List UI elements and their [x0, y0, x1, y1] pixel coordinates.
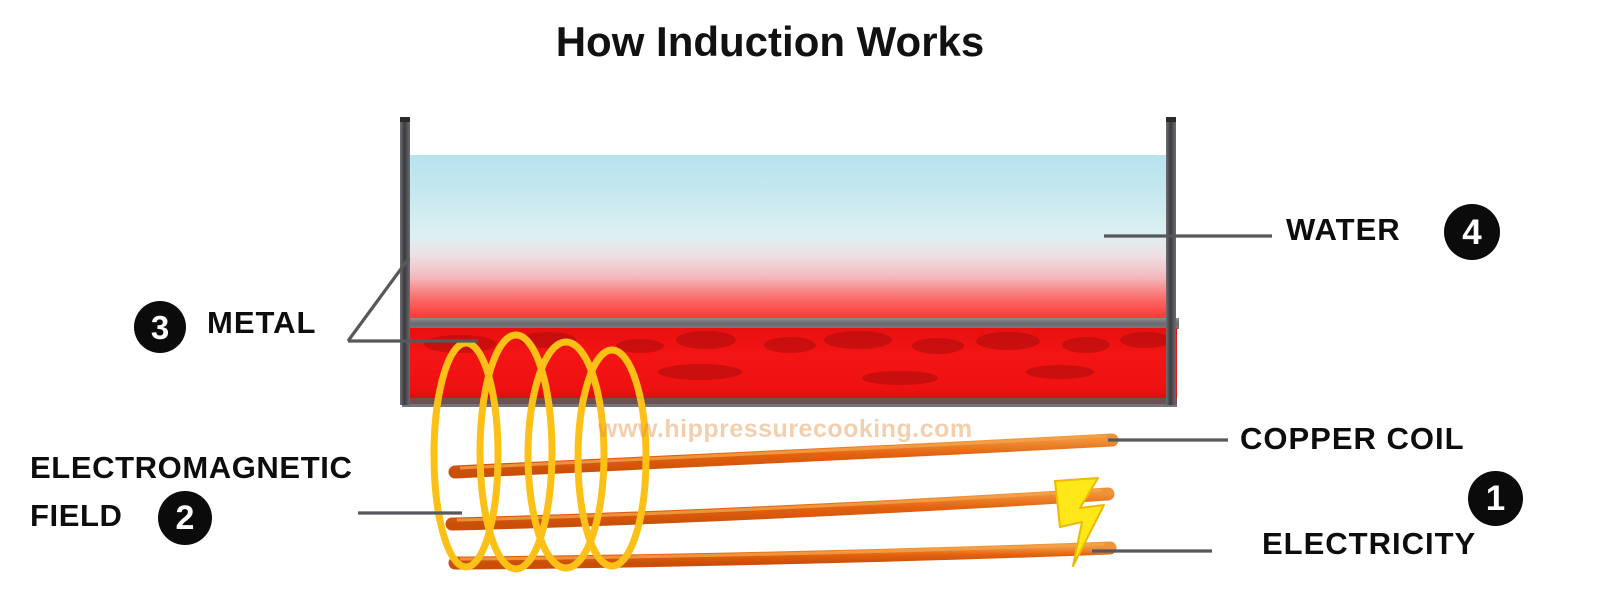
- metal-base-band: [400, 318, 1179, 329]
- pot-rim-left: [400, 117, 410, 122]
- watermark-url: www.hippressurecooking.com: [598, 415, 973, 444]
- label-water: WATER: [1286, 214, 1401, 247]
- water-body: [407, 155, 1172, 323]
- label-electromagnetic-field-line2: FIELD: [30, 500, 123, 533]
- pot-wall-right: [1166, 117, 1176, 405]
- leader-metal-diagonal: [348, 258, 409, 341]
- callout-badge-1: 1: [1468, 471, 1523, 526]
- label-electromagnetic-field-line1: ELECTROMAGNETIC: [30, 452, 352, 485]
- page-title: How Induction Works: [0, 20, 1540, 64]
- pot-group: [400, 117, 1179, 407]
- label-electricity: ELECTRICITY: [1262, 528, 1476, 561]
- pot-rim-right: [1166, 117, 1176, 122]
- diagram-canvas: How Induction Works WATER METAL ELECTROM…: [0, 0, 1600, 611]
- label-copper-coil: COPPER COIL: [1240, 423, 1465, 456]
- callout-badge-4: 4: [1444, 204, 1500, 260]
- label-metal: METAL: [207, 307, 316, 340]
- callout-badge-2: 2: [158, 491, 212, 545]
- base-shadow: [402, 398, 1177, 407]
- callout-badge-3: 3: [134, 301, 186, 353]
